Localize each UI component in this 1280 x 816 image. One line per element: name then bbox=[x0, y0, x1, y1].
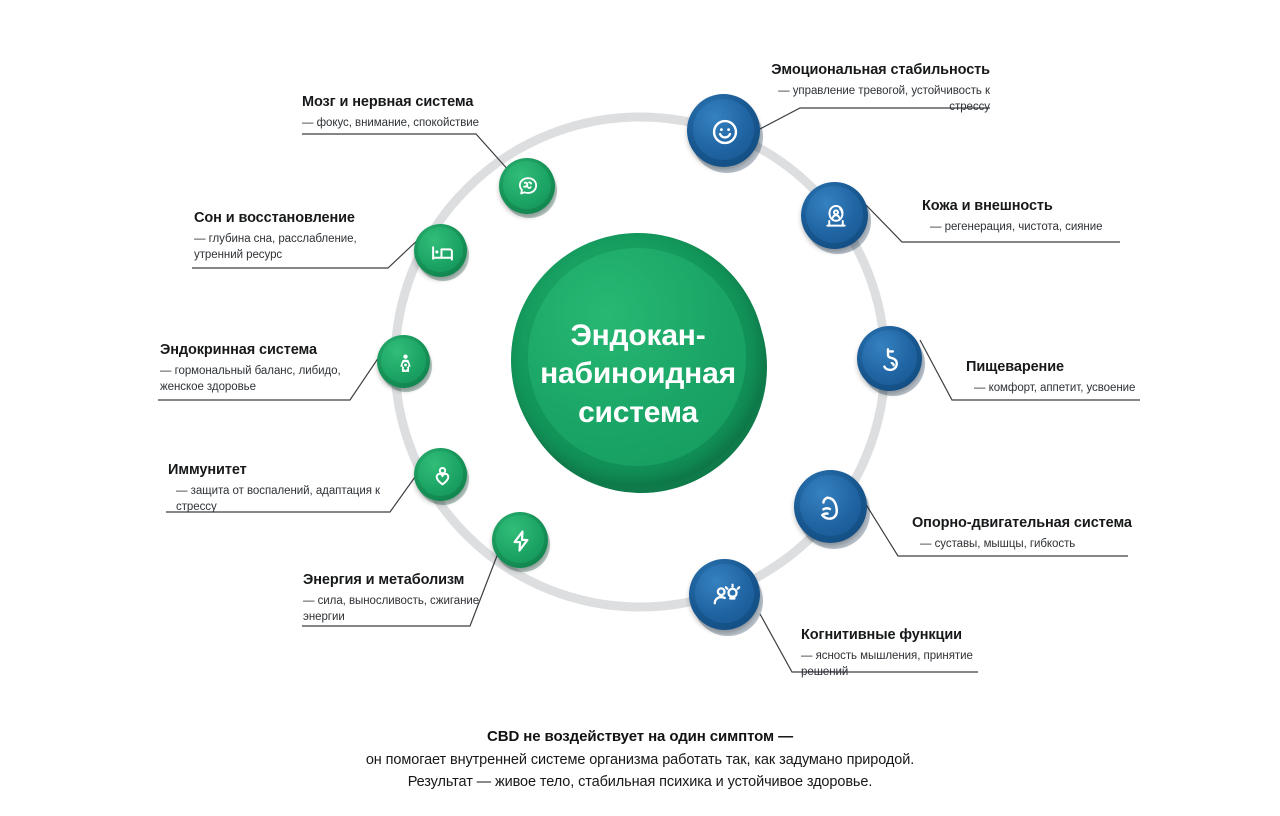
node-musculoskeletal[interactable] bbox=[794, 470, 870, 546]
node-sleep[interactable] bbox=[414, 224, 470, 280]
label-digestion: Пищеварение — комфорт, аппетит, усвоение bbox=[966, 358, 1166, 396]
label-endocrine: Эндокринная система — гормональный балан… bbox=[160, 341, 370, 396]
label-skin: Кожа и внешность — регенерация, чистота,… bbox=[922, 197, 1137, 235]
label-sleep: Сон и восстановление — глубина сна, расс… bbox=[194, 209, 394, 264]
head-lightbulb-icon bbox=[689, 559, 763, 633]
female-body-icon bbox=[377, 335, 433, 391]
footer-line-1: CBD не воздействует на один симптом — bbox=[0, 726, 1280, 749]
label-subtitle: — суставы, мышцы, гибкость bbox=[920, 536, 1142, 552]
heart-shield-icon bbox=[414, 448, 470, 504]
label-subtitle: — глубина сна, расслабление, утренний ре… bbox=[194, 231, 394, 264]
hub-title-line-3: система bbox=[511, 394, 765, 432]
label-title: Эмоциональная стабильность bbox=[740, 61, 990, 79]
label-energy: Энергия и метаболизм — сила, выносливост… bbox=[303, 571, 508, 626]
label-title: Опорно-двигательная система bbox=[912, 514, 1142, 532]
label-brain: Мозг и нервная система — фокус, внимание… bbox=[302, 93, 552, 131]
label-subtitle: — сила, выносливость, сжигание энергии bbox=[303, 593, 508, 626]
hub-title-line-1: Эндокан- bbox=[511, 317, 765, 355]
infographic-canvas: Эндокан- набиноидная система bbox=[0, 0, 1280, 816]
node-digestion[interactable] bbox=[857, 326, 925, 394]
node-skin[interactable] bbox=[801, 182, 871, 252]
label-subtitle: — защита от воспалений, адаптация к стре… bbox=[176, 483, 392, 516]
label-title: Пищеварение bbox=[966, 358, 1166, 376]
brain-icon bbox=[499, 158, 557, 216]
node-cognitive[interactable] bbox=[689, 559, 763, 633]
label-subtitle: — ясность мышления, принятие решений bbox=[801, 648, 991, 681]
label-title: Иммунитет bbox=[168, 461, 392, 479]
node-immunity[interactable] bbox=[414, 448, 470, 504]
label-subtitle: — управление тревогой, устойчивость к ст… bbox=[740, 83, 990, 116]
leader-brain bbox=[302, 134, 510, 172]
hub-title: Эндокан- набиноидная система bbox=[511, 317, 765, 432]
footer-line-2: он помогает внутренней системе организма… bbox=[0, 749, 1280, 771]
label-emotional: Эмоциональная стабильность — управление … bbox=[740, 61, 990, 116]
node-energy[interactable] bbox=[492, 512, 550, 570]
node-endocrine[interactable] bbox=[377, 335, 433, 391]
mirror-face-icon bbox=[801, 182, 871, 252]
label-title: Эндокринная система bbox=[160, 341, 370, 359]
label-subtitle: — фокус, внимание, спокойствие bbox=[302, 115, 552, 131]
label-immunity: Иммунитет — защита от воспалений, адапта… bbox=[168, 461, 392, 516]
label-subtitle: — гормональный баланс, либидо, женское з… bbox=[160, 363, 370, 396]
label-title: Энергия и метаболизм bbox=[303, 571, 508, 589]
label-title: Мозг и нервная система bbox=[302, 93, 552, 111]
label-title: Кожа и внешность bbox=[922, 197, 1137, 215]
footer-text: CBD не воздействует на один симптом — он… bbox=[0, 726, 1280, 793]
hub-title-line-2: набиноидная bbox=[511, 355, 765, 393]
central-hub: Эндокан- набиноидная система bbox=[511, 233, 769, 491]
lightning-bolt-icon bbox=[492, 512, 550, 570]
label-musculoskeletal: Опорно-двигательная система — суставы, м… bbox=[912, 514, 1142, 552]
label-subtitle: — регенерация, чистота, сияние bbox=[930, 219, 1137, 235]
bed-icon bbox=[414, 224, 470, 280]
label-subtitle: — комфорт, аппетит, усвоение bbox=[974, 380, 1166, 396]
label-title: Сон и восстановление bbox=[194, 209, 394, 227]
node-brain[interactable] bbox=[499, 158, 557, 216]
footer-line-3: Результат — живое тело, стабильная психи… bbox=[0, 771, 1280, 793]
flexed-arm-icon bbox=[794, 470, 870, 546]
label-title: Когнитивные функции bbox=[801, 626, 991, 644]
stomach-icon bbox=[857, 326, 925, 394]
label-cognitive: Когнитивные функции — ясность мышления, … bbox=[801, 626, 991, 681]
